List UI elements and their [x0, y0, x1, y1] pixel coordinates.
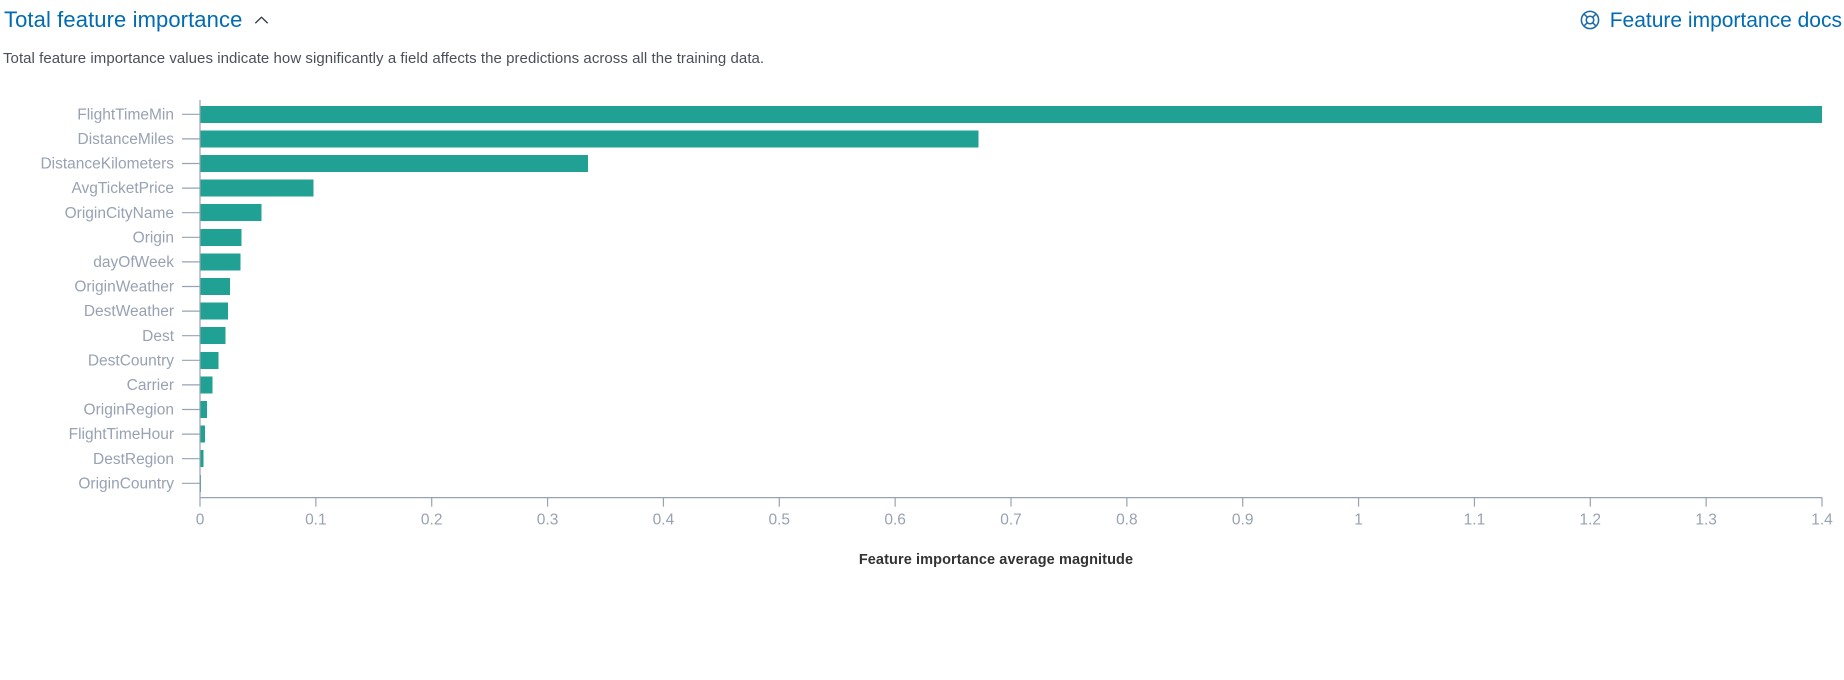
y-tick-label: DistanceKilometers	[40, 156, 174, 173]
x-tick-label: 1.1	[1464, 512, 1486, 529]
help-life-ring-icon	[1579, 9, 1601, 31]
y-tick-label: DistanceMiles	[78, 131, 175, 148]
y-tick-label: OriginWeather	[74, 279, 174, 296]
y-tick-label: OriginCountry	[78, 475, 174, 492]
chevron-up-icon[interactable]	[253, 12, 270, 29]
x-tick-label: 0.3	[537, 512, 559, 529]
feature-importance-docs-link[interactable]: Feature importance docs	[1579, 8, 1844, 33]
bar-FlightTimeMin[interactable]	[200, 106, 1822, 123]
y-tick-label: Dest	[142, 328, 175, 345]
x-axis-title: Feature importance average magnitude	[0, 552, 1844, 568]
y-tick-label: AvgTicketPrice	[71, 180, 174, 197]
bar-OriginWeather[interactable]	[200, 278, 230, 295]
bar-DestWeather[interactable]	[200, 303, 228, 320]
x-tick-label: 1.3	[1695, 512, 1717, 529]
x-tick-label: 0.4	[653, 512, 675, 529]
x-tick-label: 0.8	[1116, 512, 1138, 529]
bar-AvgTicketPrice[interactable]	[200, 180, 314, 197]
bar-Origin[interactable]	[200, 229, 242, 246]
x-tick-label: 1.2	[1580, 512, 1602, 529]
bar-FlightTimeHour[interactable]	[200, 426, 205, 443]
bar-DistanceKilometers[interactable]	[200, 155, 588, 172]
feature-importance-panel: Total feature importance Feature importa…	[0, 0, 1844, 680]
bar-chart-svg: FlightTimeMinDistanceMilesDistanceKilome…	[0, 92, 1844, 552]
x-tick-label: 0.5	[769, 512, 791, 529]
panel-header: Total feature importance Feature importa…	[0, 0, 1844, 40]
y-tick-label: FlightTimeMin	[77, 106, 174, 123]
x-tick-label: 1.4	[1811, 512, 1833, 529]
bar-Dest[interactable]	[200, 327, 225, 344]
y-tick-label: Carrier	[127, 377, 174, 394]
x-tick-label: 1	[1354, 512, 1363, 529]
panel-description: Total feature importance values indicate…	[3, 48, 764, 70]
y-tick-label: Origin	[133, 229, 174, 246]
bar-OriginCityName[interactable]	[200, 204, 261, 221]
bar-OriginRegion[interactable]	[200, 401, 207, 418]
docs-link-label: Feature importance docs	[1610, 8, 1842, 33]
y-tick-label: OriginRegion	[84, 402, 174, 419]
x-tick-label: 0.1	[305, 512, 327, 529]
bar-DistanceMiles[interactable]	[200, 130, 979, 147]
panel-title-toggle[interactable]: Total feature importance	[0, 7, 270, 33]
feature-importance-chart: FlightTimeMinDistanceMilesDistanceKilome…	[0, 92, 1844, 680]
x-tick-label: 0.2	[421, 512, 443, 529]
y-tick-label: DestRegion	[93, 451, 174, 468]
y-tick-label: dayOfWeek	[93, 254, 174, 271]
bar-dayOfWeek[interactable]	[200, 253, 241, 270]
bar-Carrier[interactable]	[200, 376, 213, 393]
y-tick-label: DestWeather	[84, 303, 174, 320]
x-tick-label: 0	[196, 512, 205, 529]
bar-DestCountry[interactable]	[200, 352, 219, 369]
page-title: Total feature importance	[4, 7, 242, 33]
y-tick-label: OriginCityName	[65, 205, 174, 222]
x-tick-label: 0.6	[884, 512, 906, 529]
x-tick-label: 0.9	[1232, 512, 1254, 529]
y-tick-label: FlightTimeHour	[69, 426, 174, 443]
y-tick-label: DestCountry	[88, 352, 174, 369]
x-tick-label: 0.7	[1000, 512, 1022, 529]
